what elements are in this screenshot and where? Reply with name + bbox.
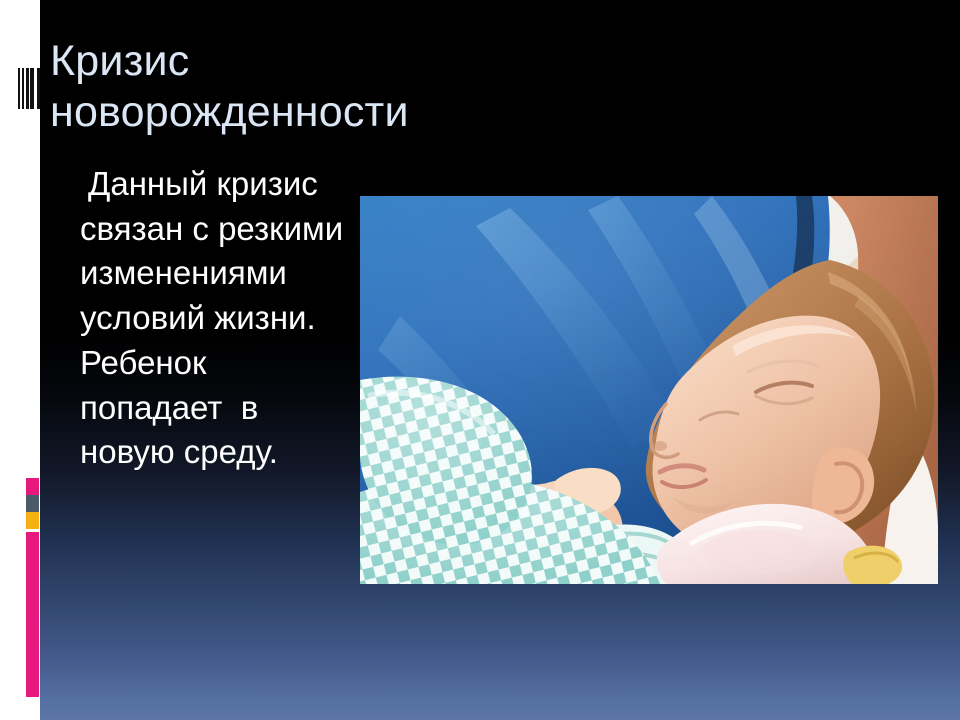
slide-body-text: Данный кризис связан с резкими изменения… [80, 162, 352, 475]
presentation-slide: Кризис новорожденности Данный кризис свя… [0, 0, 960, 720]
accent-square-slate [26, 495, 39, 512]
accent-bar-magenta [26, 532, 39, 697]
barcode-stripe [37, 68, 40, 109]
accent-square-group [26, 478, 39, 529]
barcode-stripes-decoration [18, 68, 40, 109]
accent-square-amber [26, 512, 39, 529]
baby-photo-illustration [360, 196, 938, 584]
accent-square-magenta [26, 478, 39, 495]
newborn-baby-photo [360, 196, 938, 584]
slide-title: Кризис новорожденности [50, 36, 570, 137]
